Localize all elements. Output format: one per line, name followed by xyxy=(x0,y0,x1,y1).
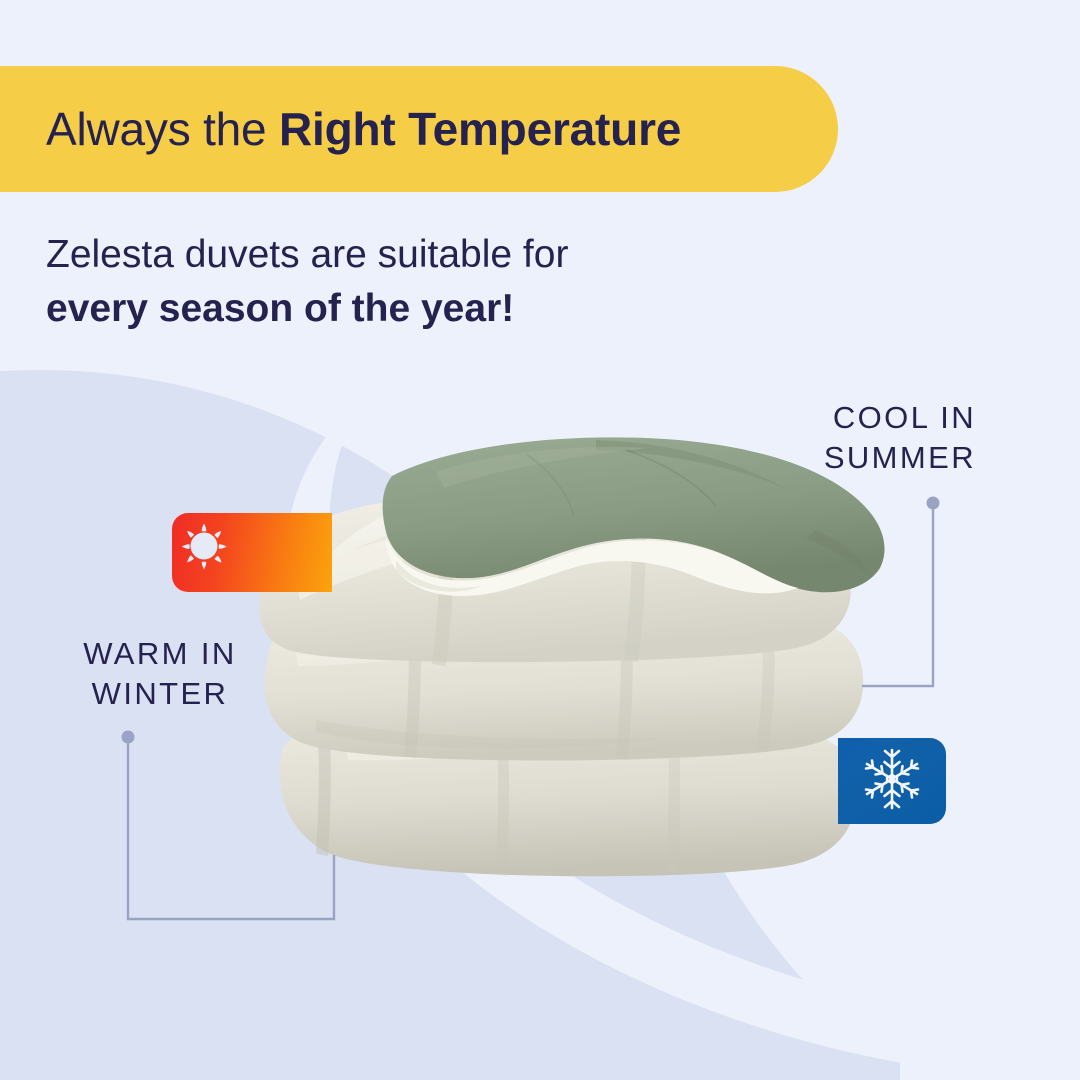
connector-warm-in-winter xyxy=(122,731,335,920)
callout-connectors xyxy=(0,0,1080,1080)
connector-cool-in-summer xyxy=(862,497,940,687)
